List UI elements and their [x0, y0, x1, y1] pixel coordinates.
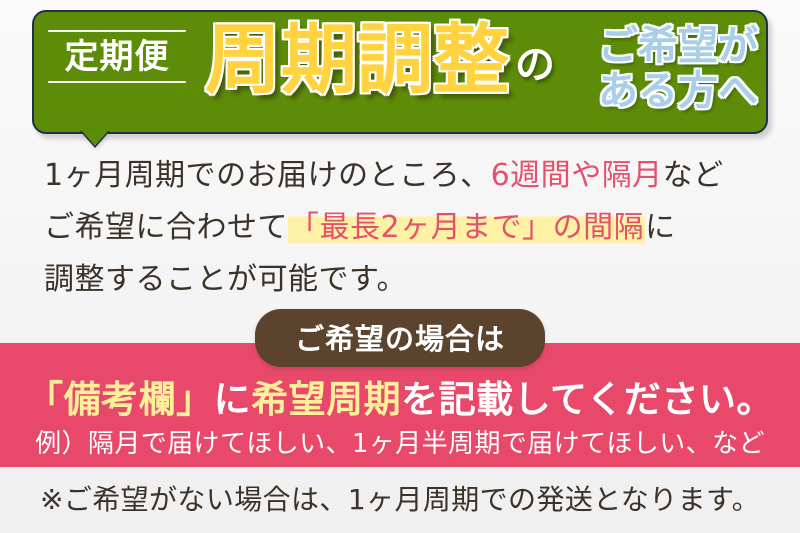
headline-main-text: 周期調整 — [205, 15, 509, 104]
headline-particle: の — [515, 42, 555, 88]
body-line2-highlight: 「最長2ヶ月まで」の間隔 — [288, 210, 645, 245]
header-tail-pointer — [82, 131, 108, 146]
header-side-text: ご希望が ある方へ — [598, 24, 758, 114]
tag-rule-bottom — [48, 81, 186, 83]
body-line1-part-a: 1ヶ月周期でのお届けのところ、 — [44, 158, 491, 193]
band-accent-1: 「備考欄」 — [26, 378, 214, 421]
promo-banner: 定期便 周期調整の ご希望が ある方へ 1ヶ月周期でのお届けのところ、6週間や隔… — [0, 0, 800, 533]
status-badge: ご希望の場合は — [255, 309, 545, 367]
side-text-line-1: ご希望が — [598, 24, 758, 69]
body-line1-accent-2: 隔月 — [602, 158, 663, 193]
body-line3: 調整することが可能です。 — [44, 262, 407, 297]
band-example-text: 例）隔月で届けてほしい、1ヶ月半周期で届けてほしい、など — [0, 423, 800, 460]
body-line1-part-b: や — [571, 158, 602, 193]
body-paragraph: 1ヶ月周期でのお届けのところ、6週間や隔月など ご希望に合わせて「最長2ヶ月まで… — [44, 150, 774, 306]
body-line1-accent-1: 6週間 — [491, 158, 572, 193]
band-accent-2: 希望周期 — [251, 378, 401, 421]
headline: 周期調整の — [205, 18, 555, 102]
band-white-1: に — [214, 378, 252, 421]
footer-note: ※ご希望がない場合は、1ヶ月周期での発送となります。 — [0, 478, 800, 518]
body-line1-part-c: など — [663, 158, 724, 193]
band-white-2: を記載してください。 — [401, 378, 774, 421]
body-line2-part-b: に — [645, 210, 676, 245]
tag-label: 定期便 — [42, 38, 192, 77]
body-line2-part-a: ご希望に合わせて — [44, 210, 288, 245]
subscription-tag: 定期便 — [42, 30, 192, 83]
tag-rule-top — [48, 30, 186, 32]
side-text-line-2: ある方へ — [598, 69, 758, 114]
band-main-text: 「備考欄」に希望周期を記載してください。 — [0, 369, 800, 423]
